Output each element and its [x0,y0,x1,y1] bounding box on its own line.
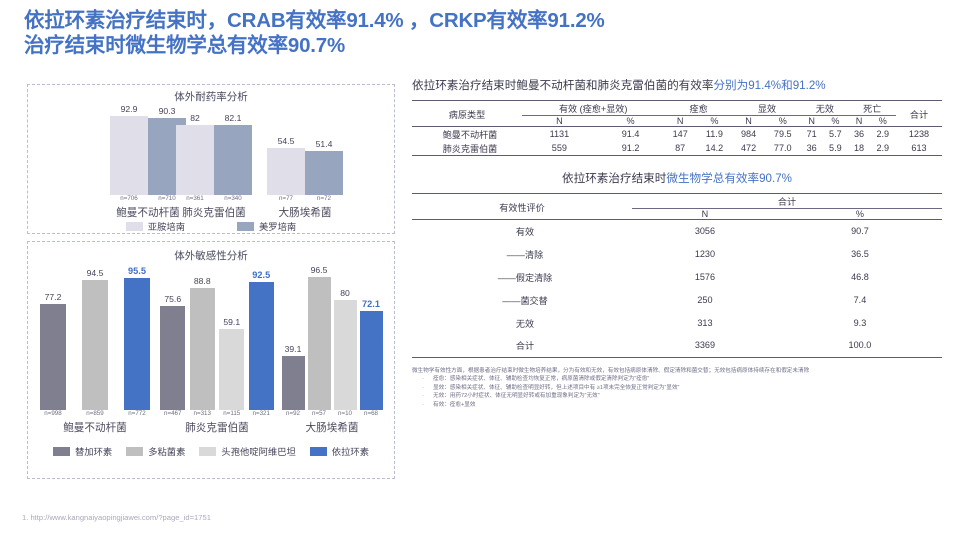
table-cell: 77.0 [764,141,801,156]
footnote-bullet: ·有效：痊愈+显效 [412,401,942,410]
bar [308,277,331,410]
bar-group: 8282.1 [173,91,255,195]
bar-item: 80 [334,250,357,410]
table-cell-n: 250 [632,288,778,311]
bar-value-label: 92.9 [121,105,138,114]
chart-2-legend: 替加环素多粘菌素头孢他啶阿维巴坦依拉环素 [28,444,394,458]
table-cell: 2.9 [870,127,896,142]
table-cell: 984 [733,127,765,142]
table-cell-n: 3369 [632,334,778,357]
table-cell-pct: 7.4 [778,288,942,311]
table-cell-n: 3056 [632,220,778,243]
table-cell: 11.9 [696,127,733,142]
bar [124,278,150,410]
table-row: ——清除123036.5 [412,243,942,266]
footnote-bullets: ·痊愈：感染相关症状、体征、辅助检查均恢复正常，病原菌清除或假定清除判定为“痊愈… [412,375,942,409]
n-label: n=57 [308,410,331,417]
n-label: n=77 [267,195,305,202]
table-cell: 71 [801,127,822,142]
bar-item: 82 [176,91,214,195]
n-label: n=340 [214,195,252,202]
n-label-group: n=77n=72 [264,195,346,202]
row-label: 肺炎克雷伯菌 [412,141,522,156]
legend-label: 亚胺培南 [148,219,185,233]
sub-header-n: N [522,116,597,127]
bullet-text: 无效：用药72小时症状、体征无明显好转或有加重现象判定为“无效” [433,392,600,401]
legend-label: 美罗培南 [259,219,296,233]
n-label: n=706 [110,195,148,202]
footnote-bullet: ·无效：用药72小时症状、体征无明显好转或有加重现象判定为“无效” [412,392,942,401]
n-label: n=859 [82,410,108,417]
bullet-dot-icon: · [422,375,427,384]
category-label: 肺炎克雷伯菌 [157,420,277,435]
table-cell: 36 [801,141,822,156]
legend-label: 头孢他啶阿维巴坦 [221,444,295,458]
bar-item: 54.5 [267,91,305,195]
bar-value-label: 75.6 [164,295,181,304]
bar-item: 51.4 [305,91,343,195]
bullet-text: 显效：感染相关症状、体征、辅助检查明显好转，但上述项目中有 ≥1项未完全恢复正常… [433,384,679,393]
sub-header-n: N [733,116,765,127]
sub-header-pct: % [597,116,665,127]
table1-caption-accent: 分别为91.4%和91.2% [713,79,825,92]
legend-label: 依拉环素 [332,444,369,458]
n-label-group: n=92n=57n=10n=68 [280,410,384,417]
legend-item[interactable]: 头孢他啶阿维巴坦 [199,444,295,458]
table-row: ——假定清除157646.8 [412,266,942,289]
table-efficacy-by-pathogen: 病原类型有效 (痊愈+显效)痊愈显效无效死亡合计N%N%N%N%N%鲍曼不动杆菌… [412,100,942,156]
charts-column: 体外耐药率分析 92.990.38282.154.551.4 n=706n=71… [27,84,395,479]
legend-label: 替加环素 [75,444,112,458]
bar [40,304,66,410]
table-cell-n: 1230 [632,243,778,266]
bar [214,125,252,195]
col-header-total: 合计 [896,101,942,127]
bar-group: 77.294.595.5 [40,250,150,410]
n-label: n=72 [305,195,343,202]
bar-item: 95.5 [124,250,150,410]
table-cell: 87 [664,141,696,156]
n-label-group: n=998n=859n=772 [40,410,150,417]
table-row: ——菌交替2507.4 [412,288,942,311]
table2-caption: 依拉环素治疗结束时微生物学总有效率90.7% [412,171,942,186]
bar [305,151,343,195]
table-cell-total: 613 [896,141,942,156]
legend-swatch [126,447,143,456]
chart-resistance-rate: 体外耐药率分析 92.990.38282.154.551.4 n=706n=71… [27,84,395,234]
bullet-text: 有效：痊愈+显效 [433,401,475,410]
table-cell: 36 [849,127,870,142]
legend-swatch [310,447,327,456]
bar-item: 96.5 [308,250,331,410]
sub-header-n: N [664,116,696,127]
table-footnote: 微生物学有效性方面，根据患者治疗结束时微生物培养结果，分为有效和无效，有效包括病… [412,367,942,410]
table-cell: 18 [849,141,870,156]
table-cell: 472 [733,141,765,156]
col-header-pathogen: 病原类型 [412,101,522,127]
category-label: 大肠埃希菌 [245,205,365,220]
table-cell: 5.9 [822,141,848,156]
bar-value-label: 59.1 [223,318,240,327]
col-group-header: 无效 [801,101,848,116]
sub-header-pct: % [778,209,942,220]
table-row: 肺炎克雷伯菌55991.28714.247277.0365.9182.9613 [412,141,942,156]
table-cell-n: 313 [632,311,778,334]
bar-group: 39.196.58072.1 [280,250,384,410]
bar [267,148,305,195]
table-cell-pct: 90.7 [778,220,942,243]
chart-1-plot: 92.990.38282.154.551.4 [28,91,394,195]
n-label: n=998 [40,410,66,417]
bar [334,300,357,410]
legend-item[interactable]: 亚胺培南 [126,219,185,233]
table-cell-total: 1238 [896,127,942,142]
bar-item: 72.1 [360,250,383,410]
bar-item: 39.1 [282,250,305,410]
sub-header-pct: % [696,116,733,127]
bar-group: 75.688.859.192.5 [158,250,276,410]
chart-susceptibility: 体外敏感性分析 77.294.595.575.688.859.192.539.1… [27,241,395,479]
n-label-group: n=467n=313n=115n=321 [158,410,276,417]
row-label: 无效 [412,311,632,334]
title-line-1: 依拉环素治疗结束时，CRAB有效率91.4% ，CRKP有效率91.2% [24,9,605,32]
table1-caption: 依拉环素治疗结束时鲍曼不动杆菌和肺炎克雷伯菌的有效率分别为91.4%和91.2% [412,78,942,93]
bar [360,311,383,410]
table-cell-pct: 9.3 [778,311,942,334]
sub-header-n: N [632,209,778,220]
bar-item: 59.1 [219,250,244,410]
bullet-dot-icon: · [422,384,427,393]
bar [190,288,215,410]
n-label: n=10 [334,410,357,417]
bar-group: 54.551.4 [264,91,346,195]
category-label: 大肠埃希菌 [272,420,392,435]
bar [176,125,214,195]
sub-header-pct: % [822,116,848,127]
tables-column: 依拉环素治疗结束时鲍曼不动杆菌和肺炎克雷伯菌的有效率分别为91.4%和91.2%… [412,78,942,410]
col-header-evaluation: 有效性评价 [412,194,632,220]
title-line-2: 治疗结束时微生物学总有效率90.7% [24,33,944,58]
col-group-header: 痊愈 [664,101,732,116]
n-label: n=313 [190,410,215,417]
bullet-text: 痊愈：感染相关症状、体征、辅助检查均恢复正常，病原菌清除或假定清除判定为“痊愈” [433,375,649,384]
row-label: 合计 [412,334,632,357]
bar-value-label: 51.4 [316,140,333,149]
row-label: ——清除 [412,243,632,266]
bar-value-label: 77.2 [45,293,62,302]
table-row: 无效3139.3 [412,311,942,334]
bar-item: 77.2 [40,250,66,410]
footnote-bullet: ·痊愈：感染相关症状、体征、辅助检查均恢复正常，病原菌清除或假定清除判定为“痊愈… [412,375,942,384]
legend-swatch [126,222,143,231]
legend-item[interactable]: 替加环素 [53,444,112,458]
col-group-header-total: 合计 [632,194,942,209]
table-cell: 5.7 [822,127,848,142]
table1-caption-plain: 依拉环素治疗结束时鲍曼不动杆菌和肺炎克雷伯菌的有效率 [412,79,713,92]
n-label: n=115 [219,410,244,417]
row-label: 有效 [412,220,632,243]
table-cell: 1131 [522,127,597,142]
legend-swatch [237,222,254,231]
bar-item: 75.6 [160,250,185,410]
bullet-dot-icon: · [422,392,427,401]
table-header-row: 病原类型有效 (痊愈+显效)痊愈显效无效死亡合计 [412,101,942,116]
col-group-header: 显效 [733,101,801,116]
source-link[interactable]: 1. http://www.kangnaiyaopingjiawei.com/?… [22,513,211,522]
table-cell: 559 [522,141,597,156]
bar-item: 94.5 [82,250,108,410]
legend-item[interactable]: 美罗培南 [237,219,296,233]
bar-item: 88.8 [190,250,215,410]
table-cell-pct: 36.5 [778,243,942,266]
n-label: n=467 [160,410,185,417]
bar-value-label: 94.5 [87,269,104,278]
row-label: 鲍曼不动杆菌 [412,127,522,142]
legend-label: 多粘菌素 [148,444,185,458]
legend-item[interactable]: 多粘菌素 [126,444,185,458]
chart-2-plot: 77.294.595.575.688.859.192.539.196.58072… [28,250,394,410]
row-label: ——菌交替 [412,288,632,311]
table-row: 合计3369100.0 [412,334,942,357]
bullet-dot-icon: · [422,401,427,410]
slide-root: 依拉环素治疗结束时，CRAB有效率91.4% ，CRKP有效率91.2% 治疗结… [0,0,960,540]
table-cell: 79.5 [764,127,801,142]
col-group-header: 死亡 [849,101,896,116]
n-label-group: n=361n=340 [173,195,255,202]
bar-value-label: 39.1 [285,345,302,354]
table-row: 有效305690.7 [412,220,942,243]
bar [160,306,185,410]
bar [219,329,244,410]
category-label: 鲍曼不动杆菌 [35,420,155,435]
table-cell: 14.2 [696,141,733,156]
table2-wrapper: 依拉环素治疗结束时微生物学总有效率90.7% 有效性评价合计N%有效305690… [412,171,942,358]
n-label: n=68 [360,410,383,417]
bar [110,116,148,195]
table-row: 鲍曼不动杆菌113191.414711.998479.5715.7362.912… [412,127,942,142]
legend-swatch [199,447,216,456]
table-cell-pct: 100.0 [778,334,942,357]
bar-value-label: 95.5 [128,267,146,276]
bar-value-label: 96.5 [311,266,328,275]
row-label: ——假定清除 [412,266,632,289]
sub-header-pct: % [764,116,801,127]
table-microbiological-efficacy: 有效性评价合计N%有效305690.7——清除123036.5——假定清除157… [412,193,942,358]
table-cell: 2.9 [870,141,896,156]
bar-value-label: 72.1 [362,300,380,309]
col-group-header: 有效 (痊愈+显效) [522,101,664,116]
table-cell: 91.2 [597,141,665,156]
table-header-row: 有效性评价合计 [412,194,942,209]
table-cell: 147 [664,127,696,142]
bar [282,356,305,410]
sub-header-n: N [801,116,822,127]
legend-item[interactable]: 依拉环素 [310,444,369,458]
n-label: n=92 [282,410,305,417]
sub-header-pct: % [870,116,896,127]
bar-value-label: 54.5 [278,137,295,146]
table-cell-n: 1576 [632,266,778,289]
table-cell: 91.4 [597,127,665,142]
chart-1-legend: 亚胺培南美罗培南 [28,219,394,233]
footnote-intro: 微生物学有效性方面，根据患者治疗结束时微生物培养结果，分为有效和无效，有效包括病… [412,367,942,376]
bar-value-label: 92.5 [252,271,270,280]
bar-value-label: 82.1 [225,114,242,123]
table-cell-pct: 46.8 [778,266,942,289]
bar [82,280,108,410]
footnote-bullet: ·显效：感染相关症状、体征、辅助检查明显好转，但上述项目中有 ≥1项未完全恢复正… [412,384,942,393]
bar-item: 92.9 [110,91,148,195]
bar-value-label: 88.8 [194,277,211,286]
legend-swatch [53,447,70,456]
table2-caption-accent: 微生物学总有效率90.7% [666,172,792,185]
bar-item: 82.1 [214,91,252,195]
bar-value-label: 80 [340,289,350,298]
page-title: 依拉环素治疗结束时，CRAB有效率91.4% ，CRKP有效率91.2% 治疗结… [24,8,944,58]
bar-value-label: 82 [190,114,200,123]
table2-caption-plain: 依拉环素治疗结束时 [562,172,666,185]
n-label: n=361 [176,195,214,202]
bar [249,282,274,410]
n-label: n=772 [124,410,150,417]
sub-header-n: N [849,116,870,127]
n-label: n=321 [249,410,274,417]
bar-item: 92.5 [249,250,274,410]
